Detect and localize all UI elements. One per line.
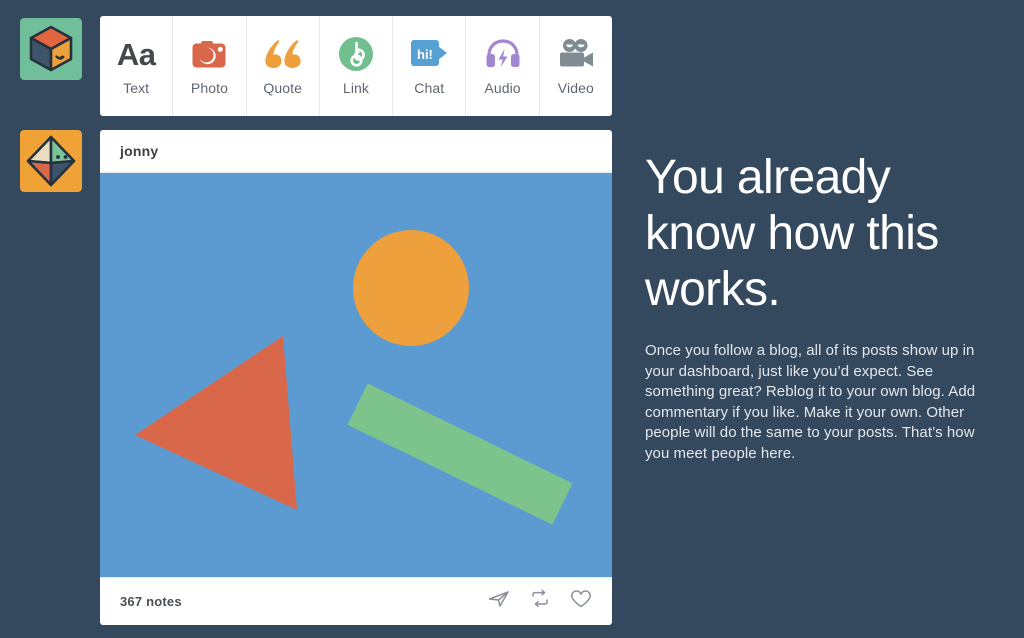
composer-chat[interactable]: hi! Chat — [393, 16, 466, 116]
composer-quote[interactable]: Quote — [247, 16, 320, 116]
post-composer: Aa Text Photo — [100, 16, 612, 116]
chat-icon: hi! — [410, 34, 448, 74]
svg-text:hi!: hi! — [417, 47, 433, 62]
audio-icon — [485, 34, 521, 74]
post-footer: 367 notes — [100, 577, 612, 625]
link-icon — [338, 34, 374, 74]
promo-body: Once you follow a blog, all of its posts… — [645, 341, 997, 464]
post-username[interactable]: jonny — [120, 143, 158, 159]
composer-audio[interactable]: Audio — [466, 16, 539, 116]
quote-icon — [264, 34, 302, 74]
text-icon: Aa — [117, 34, 156, 74]
promo-title: You already know how this works. — [645, 150, 997, 318]
like-icon[interactable] — [570, 589, 592, 614]
shape-circle — [353, 230, 469, 346]
composer-video-label: Video — [558, 80, 594, 96]
composer-text-label: Text — [123, 80, 149, 96]
avatar-rail — [20, 18, 82, 242]
composer-photo[interactable]: Photo — [173, 16, 246, 116]
composer-link-label: Link — [343, 80, 369, 96]
promo-panel: You already know how this works. Once yo… — [645, 150, 997, 464]
post-photo[interactable] — [100, 173, 612, 577]
octahedron-avatar[interactable] — [20, 130, 82, 192]
composer-link[interactable]: Link — [320, 16, 393, 116]
video-icon — [557, 34, 595, 74]
post-actions — [488, 589, 592, 614]
page-root: Aa Text Photo — [0, 0, 1024, 638]
share-icon[interactable] — [488, 589, 510, 614]
post-card: jonny 367 notes — [100, 130, 612, 625]
cube-avatar[interactable] — [20, 18, 82, 80]
composer-photo-label: Photo — [191, 80, 228, 96]
post-header: jonny — [100, 130, 612, 173]
composer-chat-label: Chat — [414, 80, 444, 96]
reblog-icon[interactable] — [530, 589, 550, 614]
composer-audio-label: Audio — [484, 80, 520, 96]
composer-text[interactable]: Aa Text — [100, 16, 173, 116]
composer-quote-label: Quote — [263, 80, 302, 96]
notes-count: 367 notes — [120, 594, 182, 609]
photo-icon — [191, 34, 227, 74]
composer-video[interactable]: Video — [540, 16, 612, 116]
